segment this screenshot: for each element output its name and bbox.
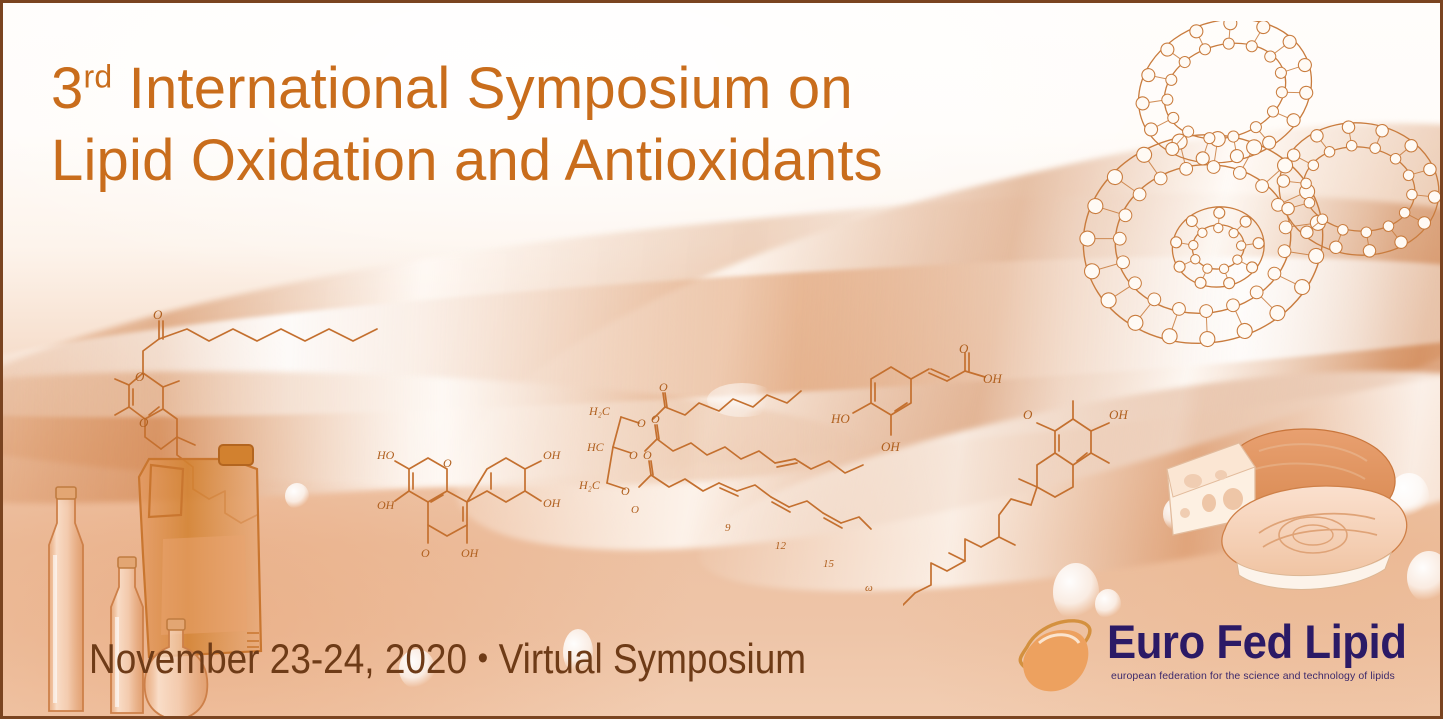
- atom-label-OH: OH: [543, 496, 562, 510]
- molecule-tocopheryl-acetate: O O O: [113, 303, 413, 583]
- oil-wave-band-4: [0, 356, 867, 501]
- atom-label-OH: OH: [461, 546, 480, 560]
- page-title-line-2: Lipid Oxidation and Antioxidants: [51, 125, 1091, 197]
- atom-label-O: O: [139, 415, 149, 430]
- atom-label-O: O: [959, 343, 969, 356]
- title-block: 3rd International Symposium on Lipid Oxi…: [51, 53, 1091, 197]
- liposome-small-right: [1273, 115, 1443, 263]
- ordinal-number: 3: [51, 56, 83, 121]
- molecule-alpha-tocopherol: OH O: [903, 353, 1213, 623]
- atom-label-OH: OH: [881, 439, 900, 454]
- oil-bottle-tall: [49, 487, 83, 711]
- atom-label-O: O: [443, 456, 452, 470]
- event-dates: November 23-24, 2020: [89, 635, 467, 683]
- ordinal-suffix: rd: [83, 59, 112, 95]
- bubble-highlight: [1389, 473, 1429, 519]
- atom-label-OH: OH: [1109, 407, 1128, 422]
- bubble-highlight: [1163, 497, 1193, 531]
- bullet-separator-icon: •: [478, 641, 488, 675]
- atom-label-HC: HC: [586, 440, 605, 454]
- atom-label-HO: HO: [376, 448, 395, 462]
- bubble-highlight: [1407, 551, 1443, 603]
- molecule-caffeic-acid: O OH HO OH: [831, 343, 1021, 473]
- atom-label-O: O: [153, 307, 163, 322]
- chain-position-0: O: [631, 504, 639, 516]
- oil-wave-band-5: [685, 327, 1443, 634]
- title-line-1-rest: International Symposium on: [112, 56, 852, 121]
- page-title-line-1: 3rd International Symposium on: [51, 53, 1091, 125]
- euro-fed-lipid-logo[interactable]: Euro Fed Lipid european federation for t…: [1009, 611, 1409, 706]
- atom-label-O: O: [643, 448, 652, 462]
- oil-droplet-mark-icon: [1009, 611, 1105, 703]
- chain-position-12: 12: [775, 540, 787, 552]
- salmon-steak-back: [1227, 429, 1395, 519]
- bubble-highlight: [285, 483, 309, 509]
- conference-banner: O O O HO OH O O OH OH OH: [0, 0, 1443, 719]
- atom-label-H2C: H₂C: [578, 478, 601, 492]
- bubble-highlight: [707, 383, 777, 417]
- logo-tagline: european federation for the science and …: [1111, 670, 1429, 683]
- salmon-steak-front: [1222, 486, 1407, 589]
- atom-label-O: O: [629, 448, 638, 462]
- liposome-large: [1073, 119, 1336, 351]
- molecule-triacylglycerol: H₂C HC H₂C O O O O O O O 9 12 15 ω: [573, 371, 903, 603]
- cheese-wedge: [1167, 443, 1255, 535]
- atom-label-O: O: [421, 546, 430, 560]
- chain-position-9: 9: [725, 522, 731, 534]
- atom-label-OH: OH: [983, 371, 1002, 386]
- atom-label-O: O: [621, 484, 630, 498]
- atom-label-HO: HO: [831, 411, 850, 426]
- atom-label-O: O: [1023, 407, 1033, 422]
- liposome-cluster: [1073, 21, 1443, 351]
- chain-position-omega: ω: [865, 582, 873, 594]
- logo-text-block: Euro Fed Lipid european federation for t…: [1107, 611, 1429, 683]
- molecule-quercetin: HO OH O O OH OH OH: [375, 445, 585, 595]
- chain-position-15: 15: [823, 558, 835, 570]
- atom-label-O: O: [659, 380, 668, 394]
- event-meta-line: November 23-24, 2020 • Virtual Symposium: [89, 635, 806, 683]
- atom-label-O: O: [135, 369, 145, 384]
- atom-label-O: O: [637, 416, 646, 430]
- food-photo-group: [1163, 407, 1439, 633]
- logo-wordmark: Euro Fed Lipid: [1107, 617, 1406, 667]
- oil-wave-band-2: [0, 230, 1443, 439]
- liposome-small-top: [1120, 21, 1331, 185]
- atom-label-O: O: [651, 412, 660, 426]
- atom-label-H2C: H₂C: [588, 404, 611, 418]
- oil-jerrycan: [139, 445, 261, 657]
- atom-label-OH: OH: [377, 498, 396, 512]
- atom-label-OH: OH: [543, 448, 562, 462]
- event-format: Virtual Symposium: [499, 635, 806, 683]
